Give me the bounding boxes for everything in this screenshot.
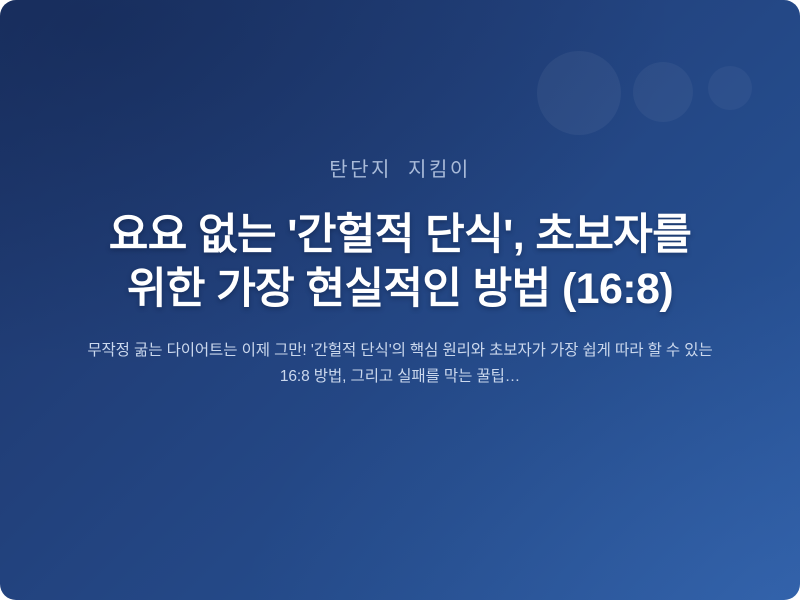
page-title: 요요 없는 '간헐적 단식', 초보자를 위한 가장 현실적인 방법 (16:8… bbox=[70, 208, 730, 316]
card-content: 탄단지 지킴이 요요 없는 '간헐적 단식', 초보자를 위한 가장 현실적인 … bbox=[0, 0, 800, 600]
brand-overline: 탄단지 지킴이 bbox=[329, 158, 471, 182]
page-subtitle: 무작정 굶는 다이어트는 이제 그만! '간헐적 단식'의 핵심 원리와 초보자… bbox=[75, 338, 725, 390]
hero-banner-card: 탄단지 지킴이 요요 없는 '간헐적 단식', 초보자를 위한 가장 현실적인 … bbox=[0, 0, 800, 600]
